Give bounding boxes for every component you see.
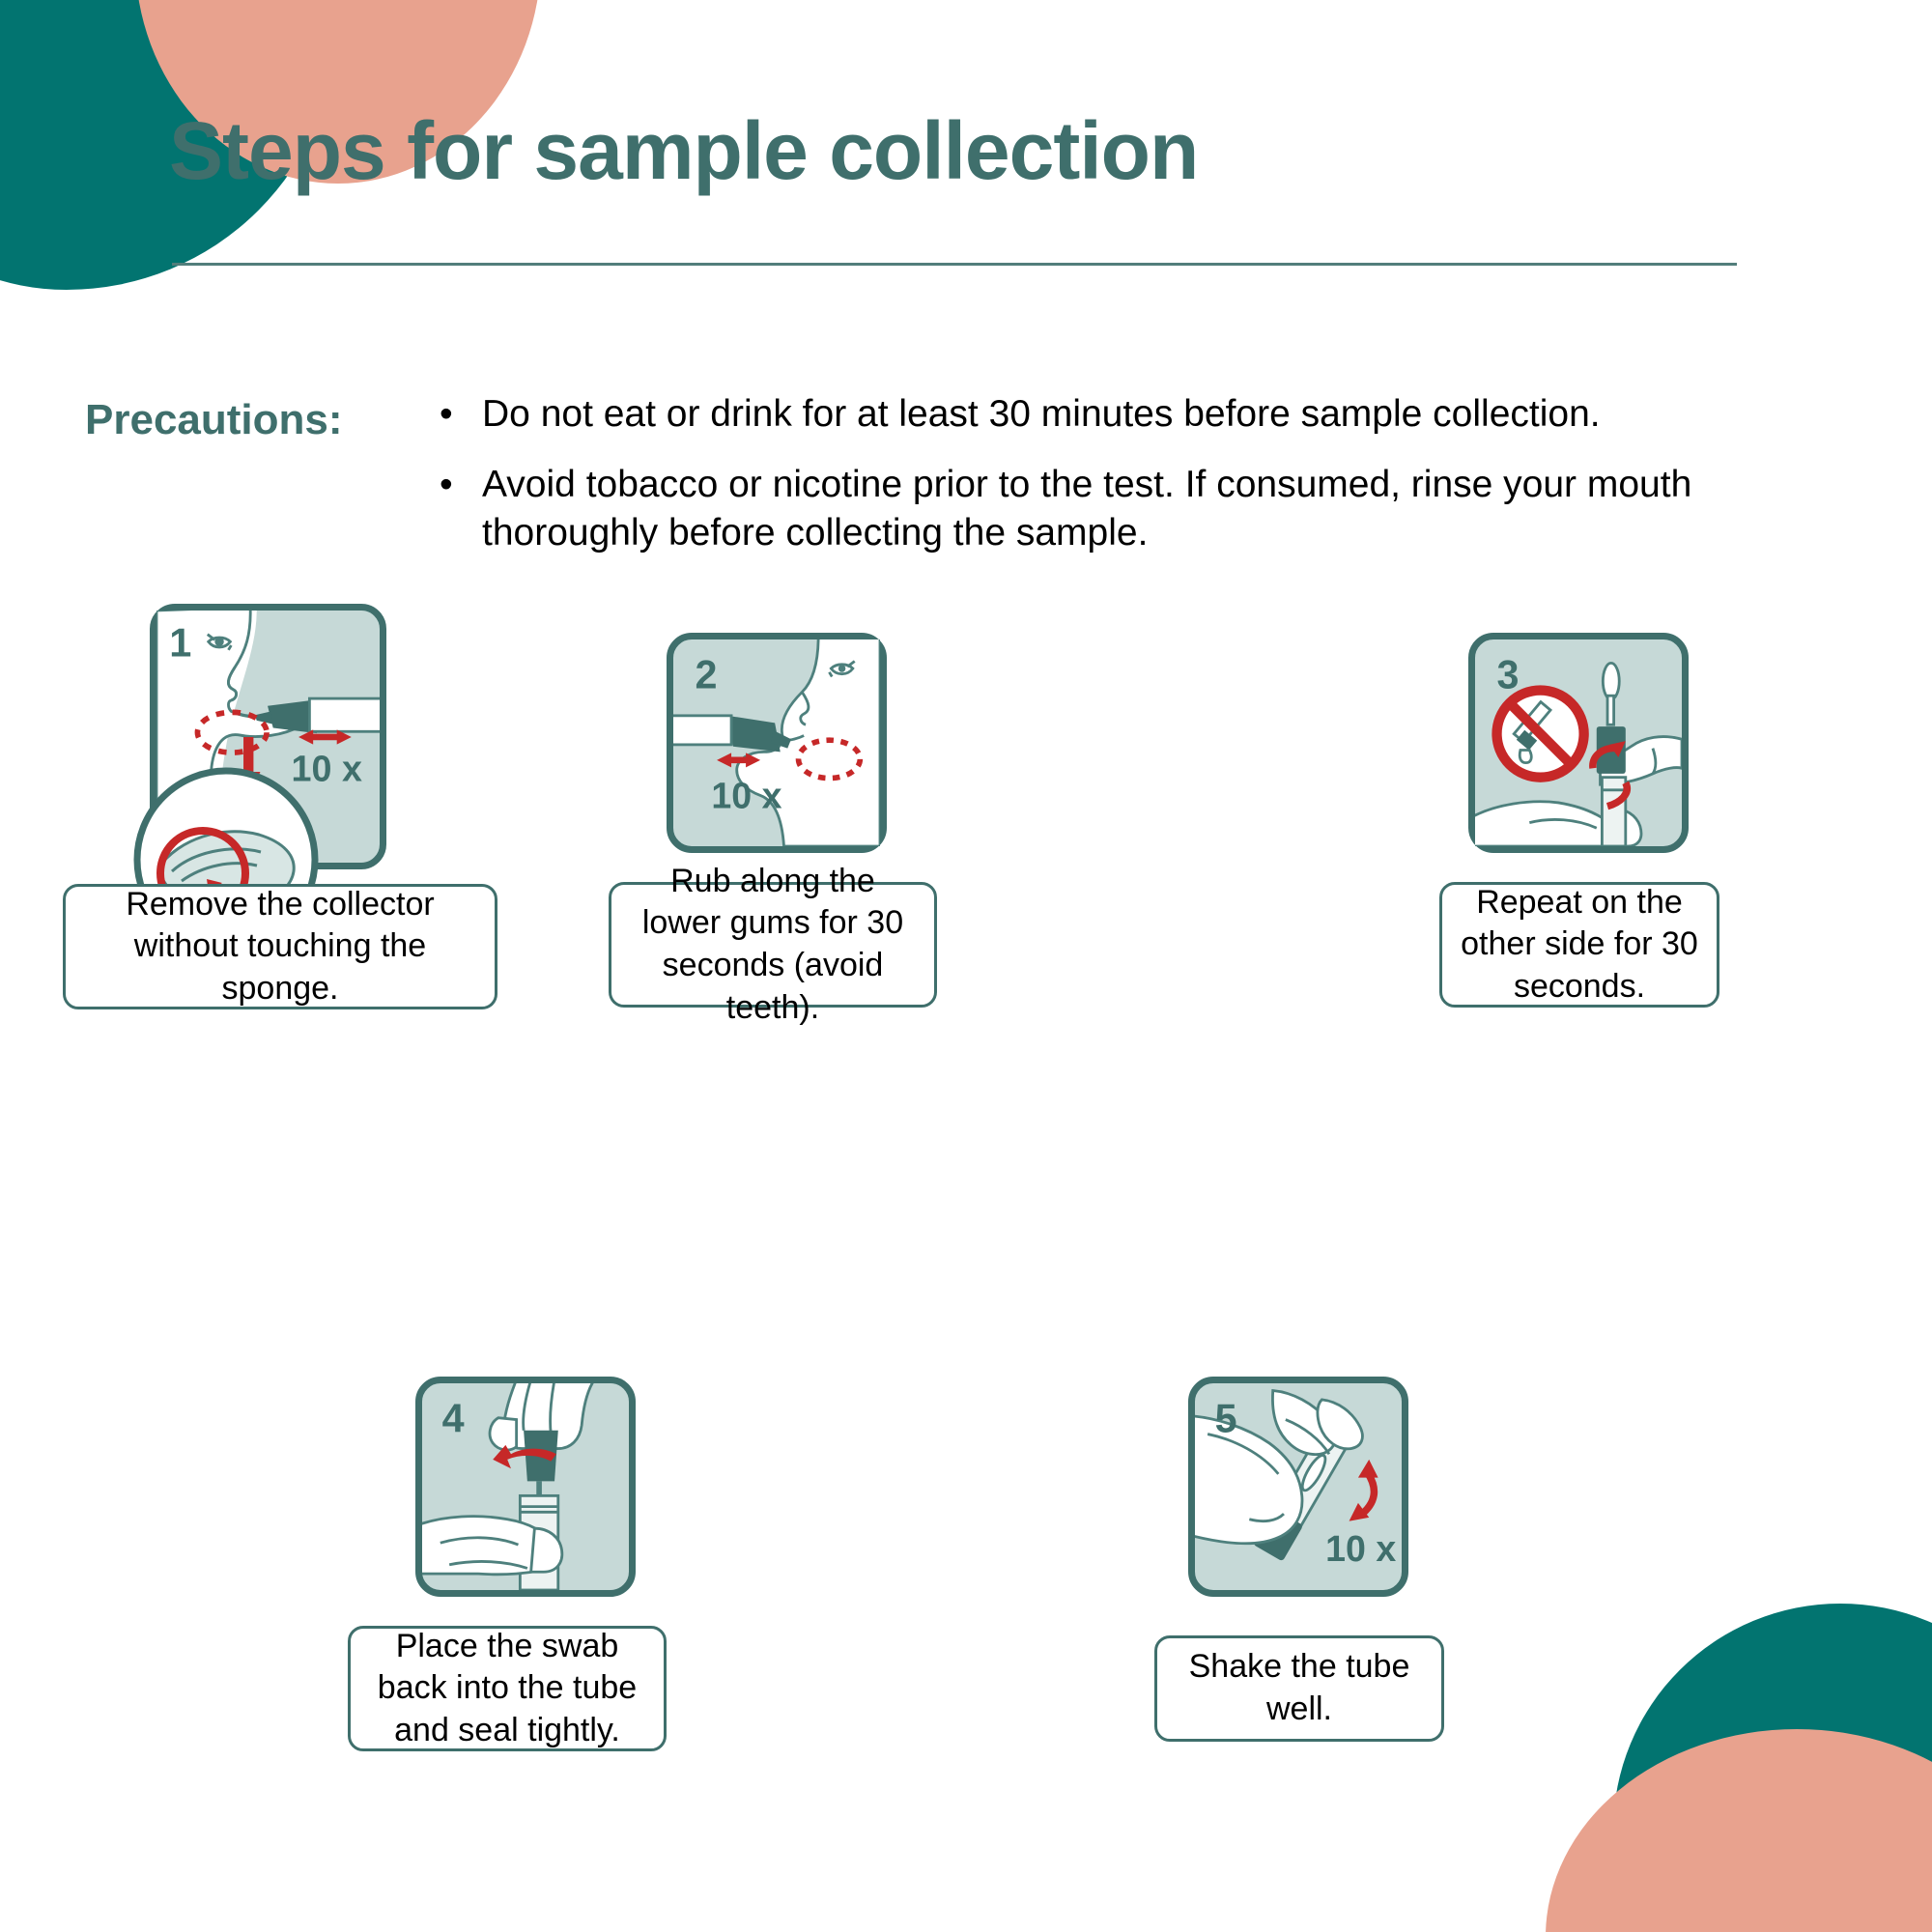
step-4-illustration-panel: 4	[415, 1377, 636, 1597]
step-4-number: 4	[442, 1397, 465, 1441]
step-4-caption: Place the swab back into the tube and se…	[348, 1626, 667, 1751]
step-3-illustration-panel: 3	[1468, 633, 1689, 853]
step-1-caption: Remove the collector without touching th…	[63, 884, 497, 1009]
steps-grid: 10 x 1 Remove	[0, 0, 1932, 1932]
step-5-number: 5	[1215, 1397, 1237, 1441]
poster-canvas: Steps for sample collection Precautions:…	[0, 0, 1932, 1932]
step-3-number: 3	[1497, 653, 1520, 697]
step-5-caption: Shake the tube well.	[1154, 1635, 1444, 1742]
step-5: 10 x 5 Shake the tube well.	[1188, 1377, 1408, 1597]
step-4: 4 Place the swab back into the tube and …	[415, 1377, 636, 1597]
step-2-illustration-panel: 10 x 2	[667, 633, 887, 853]
step-1: 10 x 1 Remove	[150, 604, 386, 869]
step-5-illustration-panel: 10 x 5	[1188, 1377, 1408, 1597]
step-1-number: 1	[169, 619, 191, 665]
step-2-caption: Rub along the lower gums for 30 seconds …	[609, 882, 937, 1008]
step-2-number: 2	[696, 653, 718, 697]
no-drip-prohibition-icon	[1497, 691, 1584, 778]
shake-arrow-icon	[1350, 1460, 1378, 1521]
step-2-repetition-label: 10 x	[711, 776, 781, 816]
step-3-caption: Repeat on the other side for 30 seconds.	[1439, 882, 1719, 1008]
step-1-illustration-panel: 10 x 1	[150, 604, 386, 869]
step-2: 10 x 2 Rub along the lower gums for 30 s…	[667, 633, 887, 853]
step-5-repetition-label: 10 x	[1325, 1528, 1396, 1569]
step-3: 3 Repeat on the other side for 30 second…	[1468, 633, 1689, 853]
